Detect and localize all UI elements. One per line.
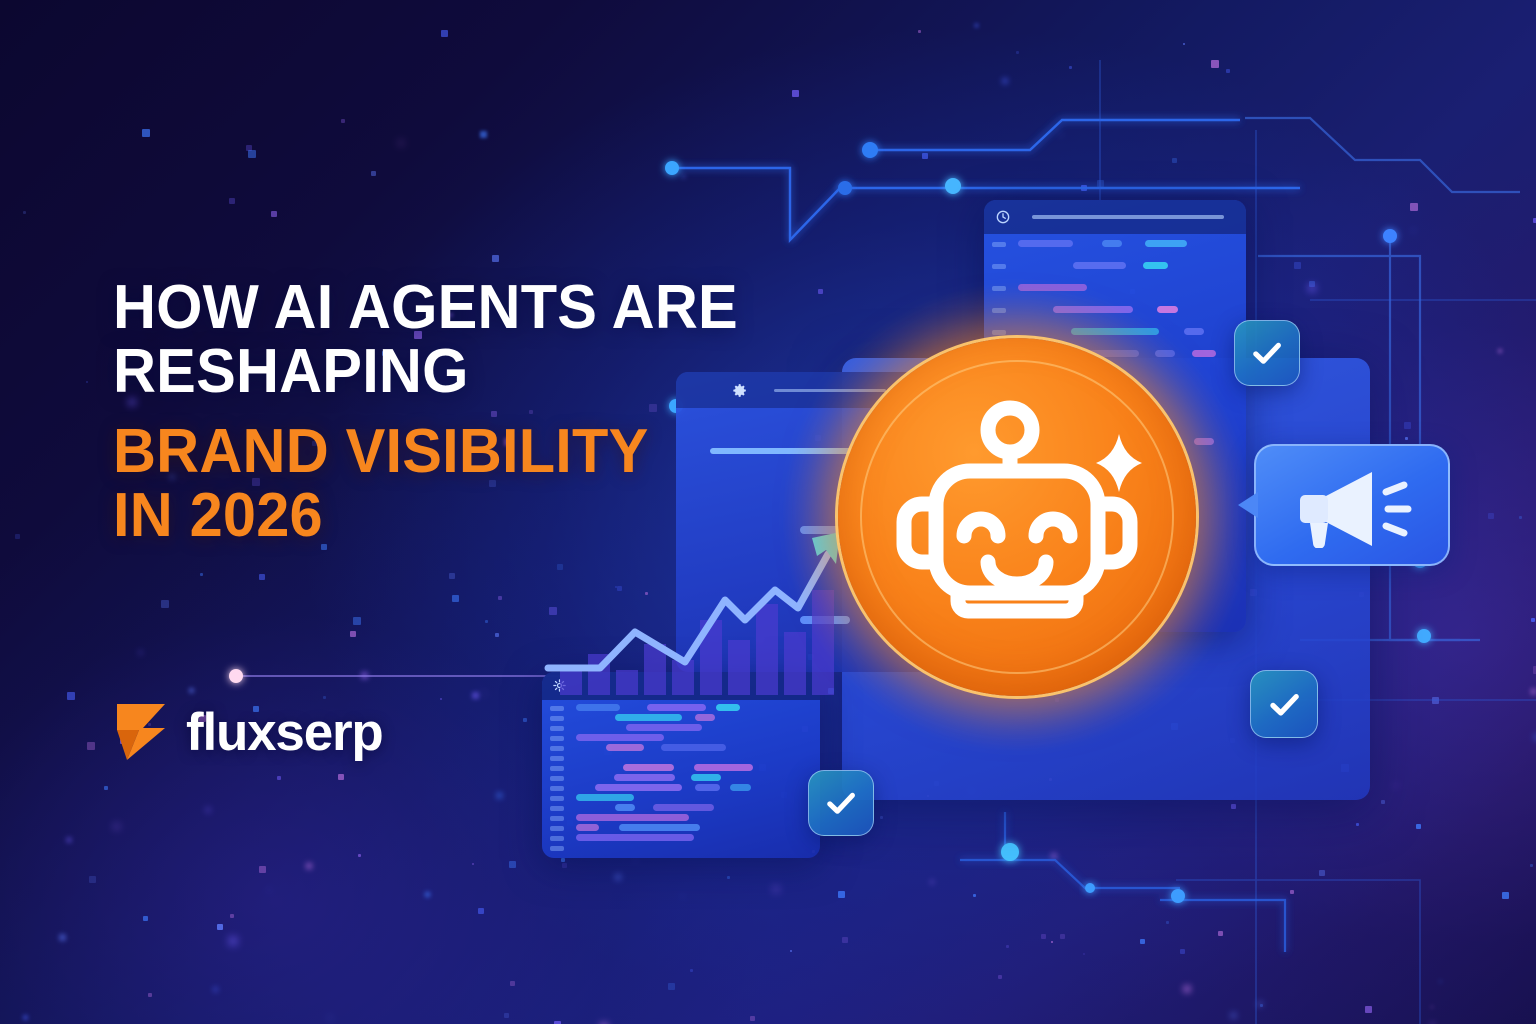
clock-icon <box>995 209 1011 225</box>
code-token <box>576 704 620 711</box>
megaphone-icon <box>1286 468 1426 548</box>
line-number <box>550 846 564 851</box>
check-icon <box>823 785 859 821</box>
ai-robot-coin[interactable] <box>838 338 1196 696</box>
headline-line-4: IN 2026 <box>113 484 843 548</box>
headline: HOW AI AGENTS ARE RESHAPING BRAND VISIBI… <box>113 276 873 549</box>
headline-line-3: BRAND VISIBILITY <box>113 420 843 484</box>
code-token <box>1145 240 1187 247</box>
code-token <box>615 714 682 721</box>
code-token <box>576 814 689 821</box>
code-token <box>730 784 751 791</box>
line-number <box>550 746 564 751</box>
check-icon <box>1266 686 1303 723</box>
code-token <box>1018 240 1073 247</box>
line-number <box>550 786 564 791</box>
line-number <box>550 816 564 821</box>
code-token <box>623 764 674 771</box>
check-badge-mid-right[interactable] <box>1250 670 1318 738</box>
bubble-tail <box>1238 492 1258 518</box>
code-lines <box>542 700 820 858</box>
code-token <box>661 744 726 751</box>
code-token <box>695 714 715 721</box>
code-token <box>614 774 675 781</box>
code-token <box>1073 262 1126 269</box>
code-token <box>615 804 635 811</box>
code-token <box>647 704 706 711</box>
code-token <box>595 784 682 791</box>
code-token <box>576 824 599 831</box>
check-badge-top-right[interactable] <box>1234 320 1300 386</box>
code-token <box>576 834 694 841</box>
brand-wordmark: fluxserp <box>186 706 383 759</box>
line-number <box>992 242 1006 247</box>
code-token <box>691 774 721 781</box>
line-number <box>550 806 564 811</box>
code-token <box>606 744 644 751</box>
line-number <box>550 766 564 771</box>
code-token <box>1143 262 1168 269</box>
line-number <box>550 826 564 831</box>
line-number <box>550 706 564 711</box>
code-panel-bottom-left[interactable] <box>542 672 820 858</box>
code-token <box>716 704 740 711</box>
code-token <box>576 734 664 741</box>
line-number <box>992 264 1006 269</box>
code-token <box>619 824 700 831</box>
robot-face-icon <box>838 338 1196 696</box>
headline-line-2: RESHAPING <box>113 340 843 404</box>
line-number <box>550 796 564 801</box>
brand-logo[interactable]: fluxserp <box>113 700 383 764</box>
line-number <box>550 726 564 731</box>
line-number <box>550 836 564 841</box>
code-token <box>1157 306 1178 313</box>
line-number <box>550 756 564 761</box>
check-icon <box>1249 335 1285 371</box>
sparkle-icon <box>1096 434 1142 492</box>
line-number <box>550 776 564 781</box>
code-token <box>1102 240 1122 247</box>
promo-graphic: HOW AI AGENTS ARE RESHAPING BRAND VISIBI… <box>0 0 1536 1024</box>
megaphone-speech-bubble[interactable] <box>1254 444 1450 566</box>
fluxserp-flag-mark-icon <box>113 700 169 764</box>
code-token <box>1184 328 1204 335</box>
line-number <box>550 736 564 741</box>
code-token <box>694 764 753 771</box>
code-token <box>576 794 634 801</box>
line-number <box>550 716 564 721</box>
check-badge-bottom-center[interactable] <box>808 770 874 836</box>
code-token <box>653 804 714 811</box>
code-token <box>626 724 702 731</box>
code-token <box>695 784 720 791</box>
headline-line-1: HOW AI AGENTS ARE <box>113 276 843 340</box>
